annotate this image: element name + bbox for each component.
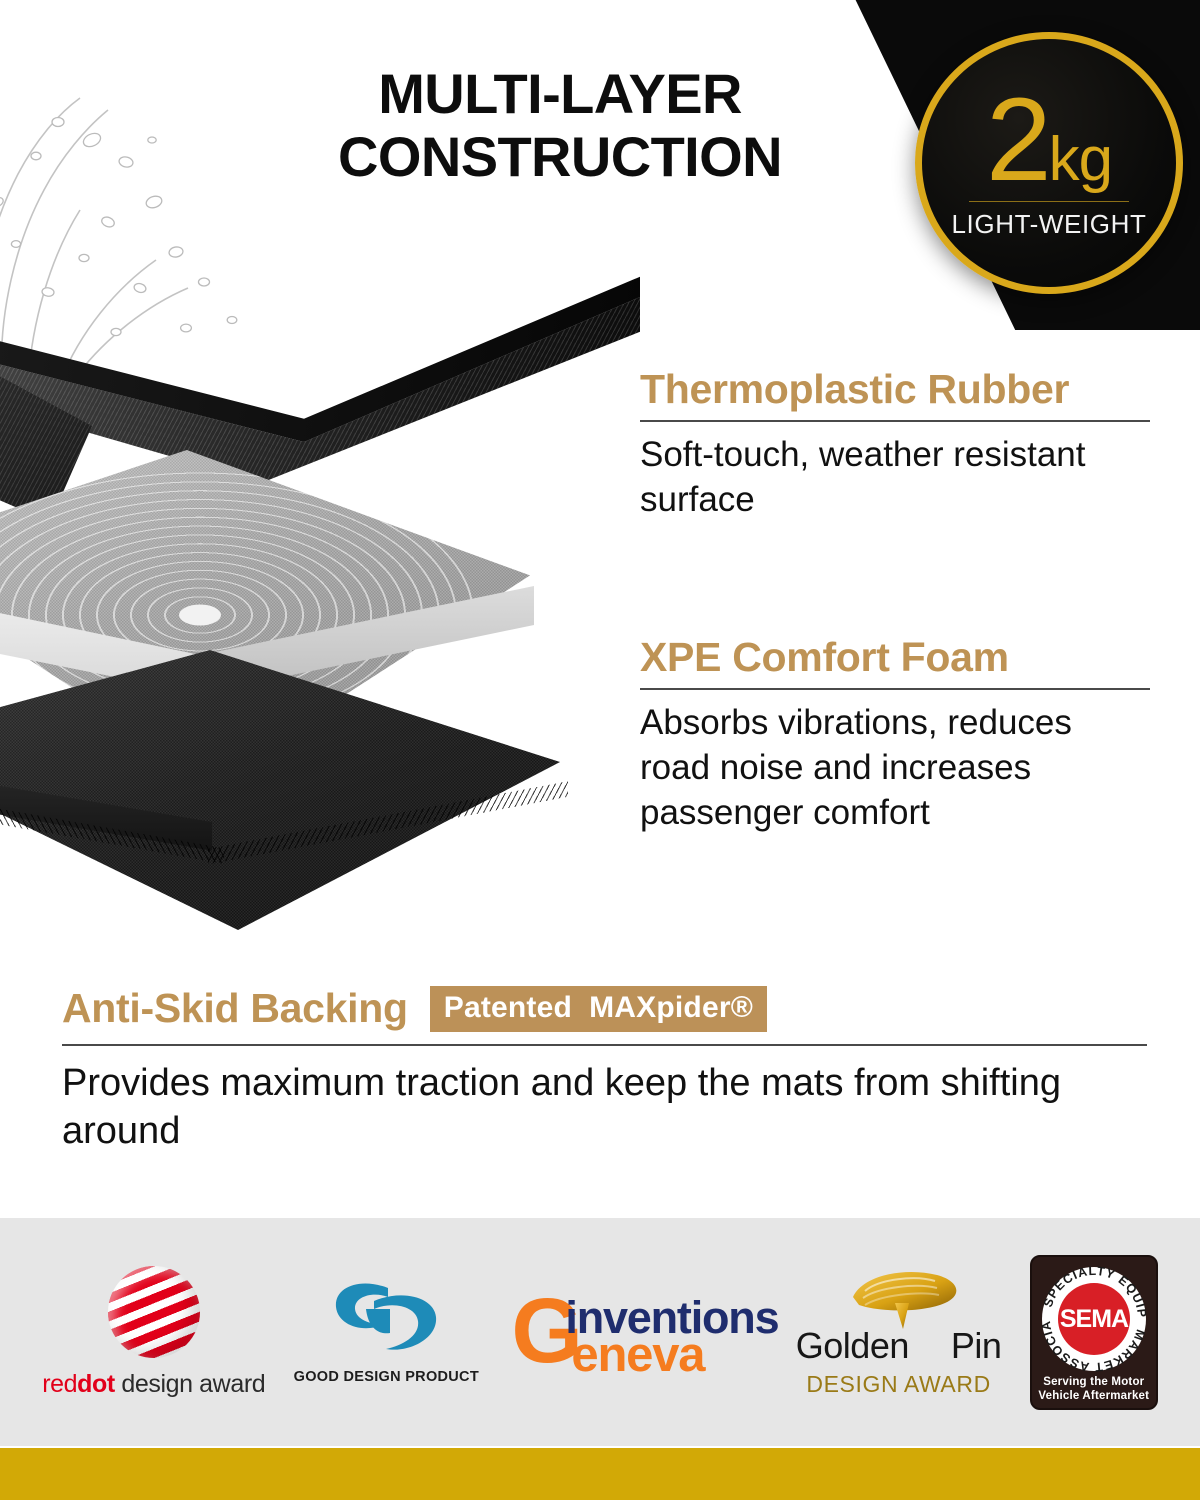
awards-band: reddot design award GOOD DESIGN PRODUCT … xyxy=(0,1218,1200,1446)
sema-caption-line-2: Vehicle Aftermarket xyxy=(1038,1389,1149,1403)
sema-caption-line-1: Serving the Motor xyxy=(1038,1375,1149,1389)
sema-ring-icon: SPECIALTY EQUIPMENT MARKET ASSOCIATION S… xyxy=(1040,1265,1148,1373)
layer-anti-skid-backing xyxy=(0,650,580,980)
good-design-gd-icon xyxy=(330,1279,442,1357)
golden-pin-wordmark: Golden Pin xyxy=(796,1325,1002,1367)
feature-body: Provides maximum traction and keep the m… xyxy=(62,1060,1147,1155)
feature-heading: Anti-Skid Backing xyxy=(62,985,408,1032)
feature-body: Absorbs vibrations, reduces road noise a… xyxy=(640,700,1150,835)
weight-badge-caption: LIGHT-WEIGHT xyxy=(952,209,1147,240)
bottom-gold-bar xyxy=(0,1448,1200,1500)
feature-thermoplastic-rubber: Thermoplastic Rubber Soft-touch, weather… xyxy=(640,368,1150,522)
feature-divider xyxy=(62,1044,1147,1046)
svg-text:SEMA: SEMA xyxy=(1060,1305,1129,1333)
reddot-dot-text: dot xyxy=(77,1370,115,1398)
award-inventions-geneva: G inventions eneva xyxy=(507,1283,767,1381)
title-line-2: CONSTRUCTION xyxy=(300,125,820,188)
sema-logo-box: SPECIALTY EQUIPMENT MARKET ASSOCIATION S… xyxy=(1030,1255,1158,1410)
feature-anti-skid-backing: Anti-Skid Backing Patented MAXpider® Pro… xyxy=(62,985,1147,1155)
weight-badge-unit: kg xyxy=(1049,131,1112,188)
page-title: MULTI-LAYER CONSTRUCTION xyxy=(300,62,820,189)
weight-badge-value: 2 kg xyxy=(986,86,1112,195)
patent-badge: Patented MAXpider® xyxy=(430,986,767,1032)
feature-divider xyxy=(640,420,1150,422)
reddot-red-text: red xyxy=(42,1370,77,1398)
award-golden-pin: Golden Pin DESIGN AWARD xyxy=(796,1267,1002,1398)
skid-grain-texture xyxy=(0,650,560,930)
infographic-root: MULTI-LAYER CONSTRUCTION 2 kg LIGHT-WEIG… xyxy=(0,0,1200,1500)
feature-heading-row: Anti-Skid Backing Patented MAXpider® xyxy=(62,985,1147,1032)
skid-top-surface xyxy=(0,650,560,930)
reddot-sphere-icon xyxy=(108,1266,200,1358)
golden-pin-swoosh-icon xyxy=(833,1267,965,1329)
award-sema: SPECIALTY EQUIPMENT MARKET ASSOCIATION S… xyxy=(1030,1255,1158,1410)
feature-heading: XPE Comfort Foam xyxy=(640,636,1150,679)
weight-badge-number: 2 xyxy=(986,86,1049,195)
pin-word: Pin xyxy=(951,1325,1002,1367)
award-label: DESIGN AWARD xyxy=(806,1371,990,1398)
feature-heading: Thermoplastic Rubber xyxy=(640,368,1150,411)
sema-caption: Serving the Motor Vehicle Aftermarket xyxy=(1038,1375,1149,1404)
award-label: reddot design award xyxy=(42,1370,265,1399)
reddot-rest-text: design award xyxy=(115,1370,265,1398)
feature-body: Soft-touch, weather resistant surface xyxy=(640,432,1150,522)
weight-badge-divider xyxy=(969,201,1129,203)
award-reddot: reddot design award xyxy=(42,1266,265,1399)
product-layers-illustration xyxy=(0,250,640,970)
award-label: GOOD DESIGN PRODUCT xyxy=(294,1369,479,1385)
title-line-1: MULTI-LAYER xyxy=(300,62,820,125)
eneva-word: eneva xyxy=(571,1331,704,1380)
inventions-geneva-logo: G inventions eneva xyxy=(507,1283,767,1381)
feature-divider xyxy=(640,688,1150,690)
foam-center-dot xyxy=(179,605,221,626)
weight-badge: 2 kg LIGHT-WEIGHT xyxy=(915,32,1183,294)
feature-xpe-comfort-foam: XPE Comfort Foam Absorbs vibrations, red… xyxy=(640,636,1150,835)
award-good-design-product: GOOD DESIGN PRODUCT xyxy=(294,1279,479,1385)
golden-word: Golden xyxy=(796,1325,909,1367)
